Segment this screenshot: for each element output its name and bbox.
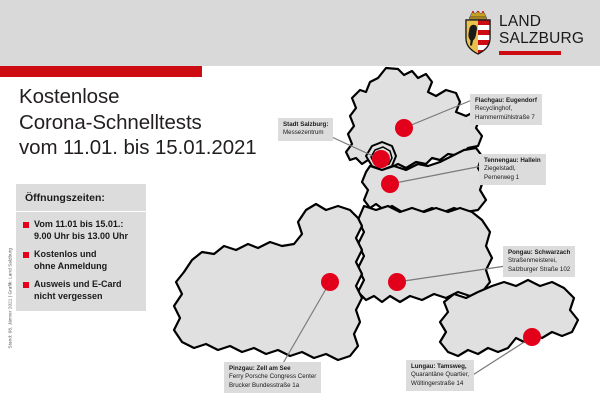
land-salzburg-logo: LAND SALZBURG [463,11,591,57]
map-marker-pinzgau[interactable] [321,273,339,291]
salzburg-coat-of-arms-icon [463,11,493,55]
callout-region: Tennengau: Hallein [484,157,541,165]
logo-line-land: LAND [499,13,591,30]
list-item-line-1: Vom 11.01 bis 15.01.: [34,219,128,231]
callout-line: Straßenmeisterei, [508,257,570,265]
callout-line: Ziegelstadl, [484,165,541,173]
callout-line: Pernerweg 1 [484,174,541,182]
list-item-line-1: Kostenlos und [34,249,107,261]
callout-region: Flachgau: Eugendorf [475,97,537,105]
bullet-square-icon [23,222,29,228]
callout-region: Stadt Salzburg: [283,121,328,129]
callout-flachgau: Flachgau: Eugendorf Recyclinghof, Hammer… [470,94,542,125]
list-item-text: Ausweis und E-Card nicht vergessen [34,279,122,302]
map-marker-stadt-salzburg[interactable] [372,150,390,168]
logo-wordmark: LAND SALZBURG [499,13,591,47]
opening-hours-list: Vom 11.01 bis 15.01.: 9.00 Uhr bis 13.00… [16,212,146,311]
list-item-line-2: nicht vergessen [34,291,122,303]
credit-vertical-text: Stand: 08. Jänner 2021 | Grafik: Land Sa… [8,241,13,349]
callout-pinzgau: Pinzgau: Zell am See Ferry Porsche Congr… [224,362,321,393]
logo-underline [499,51,561,55]
callout-line: Brucker Bundesstraße 1a [229,382,316,390]
map-marker-flachgau[interactable] [395,119,413,137]
map-marker-lungau[interactable] [523,328,541,346]
callout-line: Salzburger Straße 102 [508,266,570,274]
list-item-text: Kostenlos und ohne Anmeldung [34,249,107,272]
map-region-pongau [358,206,492,302]
callout-region: Pongau: Schwarzach [508,249,570,257]
list-item-line-2: 9.00 Uhr bis 13.00 Uhr [34,231,128,243]
map-marker-pongau[interactable] [388,273,406,291]
list-item: Vom 11.01 bis 15.01.: 9.00 Uhr bis 13.00… [23,219,140,242]
callout-tennengau: Tennengau: Hallein Ziegelstadl, Pernerwe… [479,154,546,185]
callout-line: Messezentrum [283,129,328,137]
logo-line-salzburg: SALZBURG [499,30,591,47]
list-item: Kostenlos und ohne Anmeldung [23,249,140,272]
list-item-text: Vom 11.01 bis 15.01.: 9.00 Uhr bis 13.00… [34,219,128,242]
callout-pongau: Pongau: Schwarzach Straßenmeisterei, Sal… [503,246,575,277]
list-item-line-2: ohne Anmeldung [34,261,107,273]
infographic-page: LAND SALZBURG Kostenlose Corona-Schnellt… [0,0,600,400]
bullet-square-icon [23,252,29,258]
callout-line: Quarantäne Quartier, [411,371,469,379]
list-item-line-1: Ausweis und E-Card [34,279,122,291]
callout-line: Recyclinghof, [475,105,537,113]
callout-region: Lungau: Tamsweg, [411,363,469,371]
callout-lungau: Lungau: Tamsweg, Quarantäne Quartier, Wö… [406,360,474,391]
opening-hours-heading: Öffnungszeiten: [16,184,146,212]
map-marker-tennengau[interactable] [381,175,399,193]
opening-hours-box: Öffnungszeiten: Vom 11.01 bis 15.01.: 9.… [16,184,146,311]
callout-region: Pinzgau: Zell am See [229,365,316,373]
bullet-square-icon [23,282,29,288]
list-item: Ausweis und E-Card nicht vergessen [23,279,140,302]
callout-line: Ferry Porsche Congress Center [229,373,316,381]
callout-line: Hammermühlstraße 7 [475,114,537,122]
callout-stadt-salzburg: Stadt Salzburg: Messezentrum [278,118,333,141]
callout-line: Wöltingerstraße 14 [411,380,469,388]
